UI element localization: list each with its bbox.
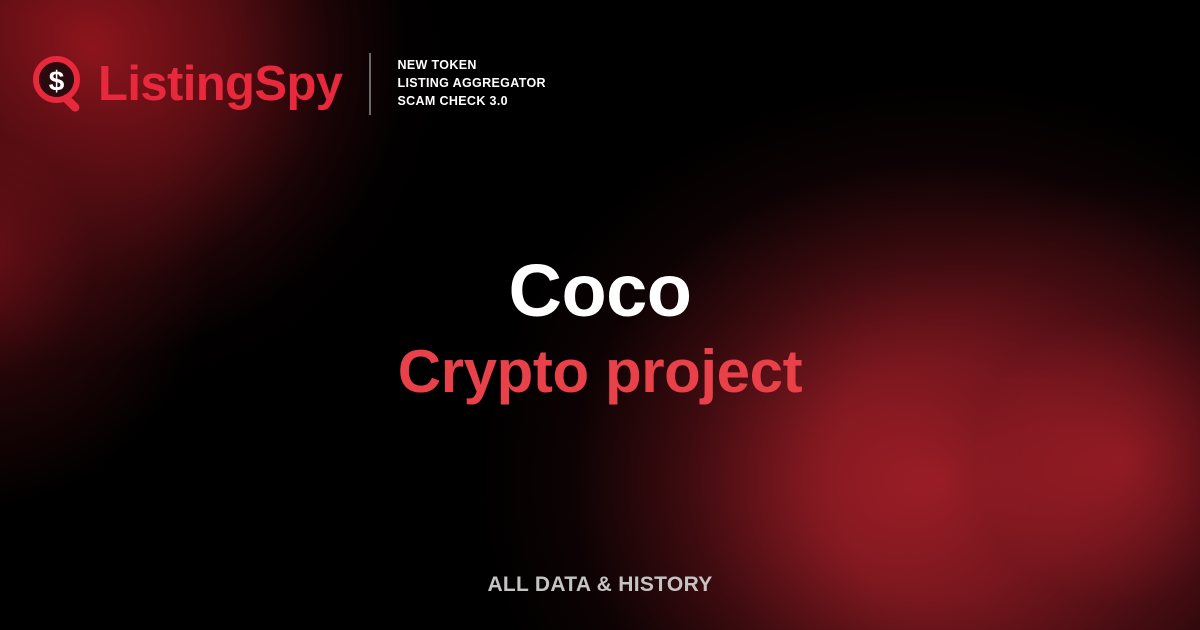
tagline-line-1: NEW TOKEN: [397, 57, 545, 75]
header-divider: [369, 53, 371, 115]
footer-caption: ALL DATA & HISTORY: [487, 573, 712, 596]
brand-wordmark: ListingSpy: [98, 60, 342, 109]
magnifier-dollar-icon: $: [33, 56, 89, 112]
project-category: Crypto project: [0, 338, 1200, 405]
logo-lockup[interactable]: $ ListingSpy: [33, 56, 342, 112]
brand-tagline: NEW TOKEN LISTING AGGREGATOR SCAM CHECK …: [397, 57, 545, 110]
svg-text:$: $: [49, 66, 65, 97]
tagline-line-3: SCAM CHECK 3.0: [397, 93, 545, 111]
footer-block: ALL DATA & HISTORY: [0, 573, 1200, 597]
tagline-line-2: LISTING AGGREGATOR: [397, 75, 545, 93]
brand-header: $ ListingSpy NEW TOKEN LISTING AGGREGATO…: [33, 53, 546, 115]
project-name: Coco: [0, 252, 1200, 330]
hero-block: Coco Crypto project: [0, 252, 1200, 406]
share-card: $ ListingSpy NEW TOKEN LISTING AGGREGATO…: [0, 0, 1200, 630]
